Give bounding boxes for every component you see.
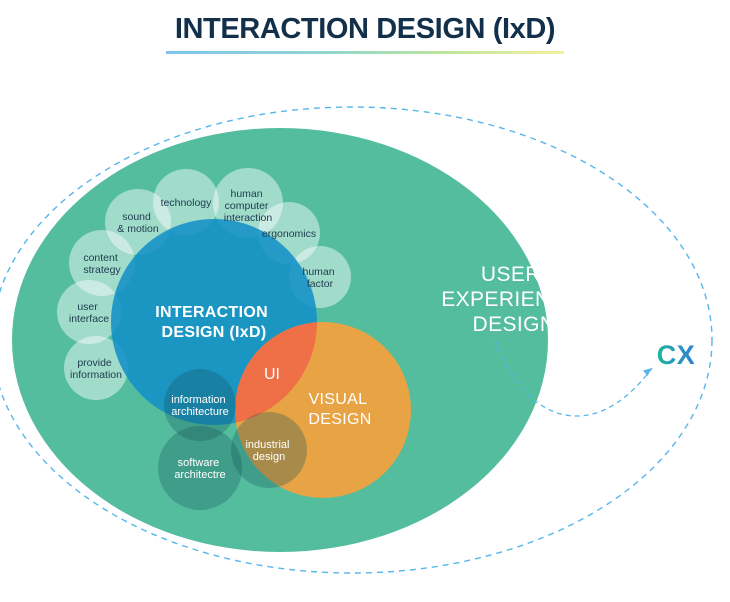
satellite-label-ergonomics: ergonomics (262, 228, 316, 240)
sub-bubble-label-information-architecture: information architecture (171, 394, 228, 418)
title-underline-gradient (166, 51, 564, 54)
satellite-label-human-factor: human factor (302, 266, 337, 290)
page-title-text: INTERACTION DESIGN (IxD) (175, 14, 555, 48)
venn-diagram: technology human computer interaction so… (0, 0, 730, 602)
diagram-canvas: INTERACTION DESIGN (IxD) (0, 0, 730, 602)
satellite-label-technology: technology (161, 197, 213, 209)
satellite-label-sound-and-motion: sound & motion (117, 211, 159, 235)
satellite-label-provide-information: provide information (70, 357, 122, 381)
sub-bubble-label-software-architectre: software architectre (174, 457, 225, 481)
satellite-label-human-computer-interaction: human computer interaction (224, 188, 273, 224)
satellite-label-content-strategy: content strategy (83, 252, 121, 276)
ui-overlap-label: UI (264, 366, 280, 383)
cx-label: CX (657, 340, 696, 370)
page-title: INTERACTION DESIGN (IxD) (0, 14, 730, 54)
